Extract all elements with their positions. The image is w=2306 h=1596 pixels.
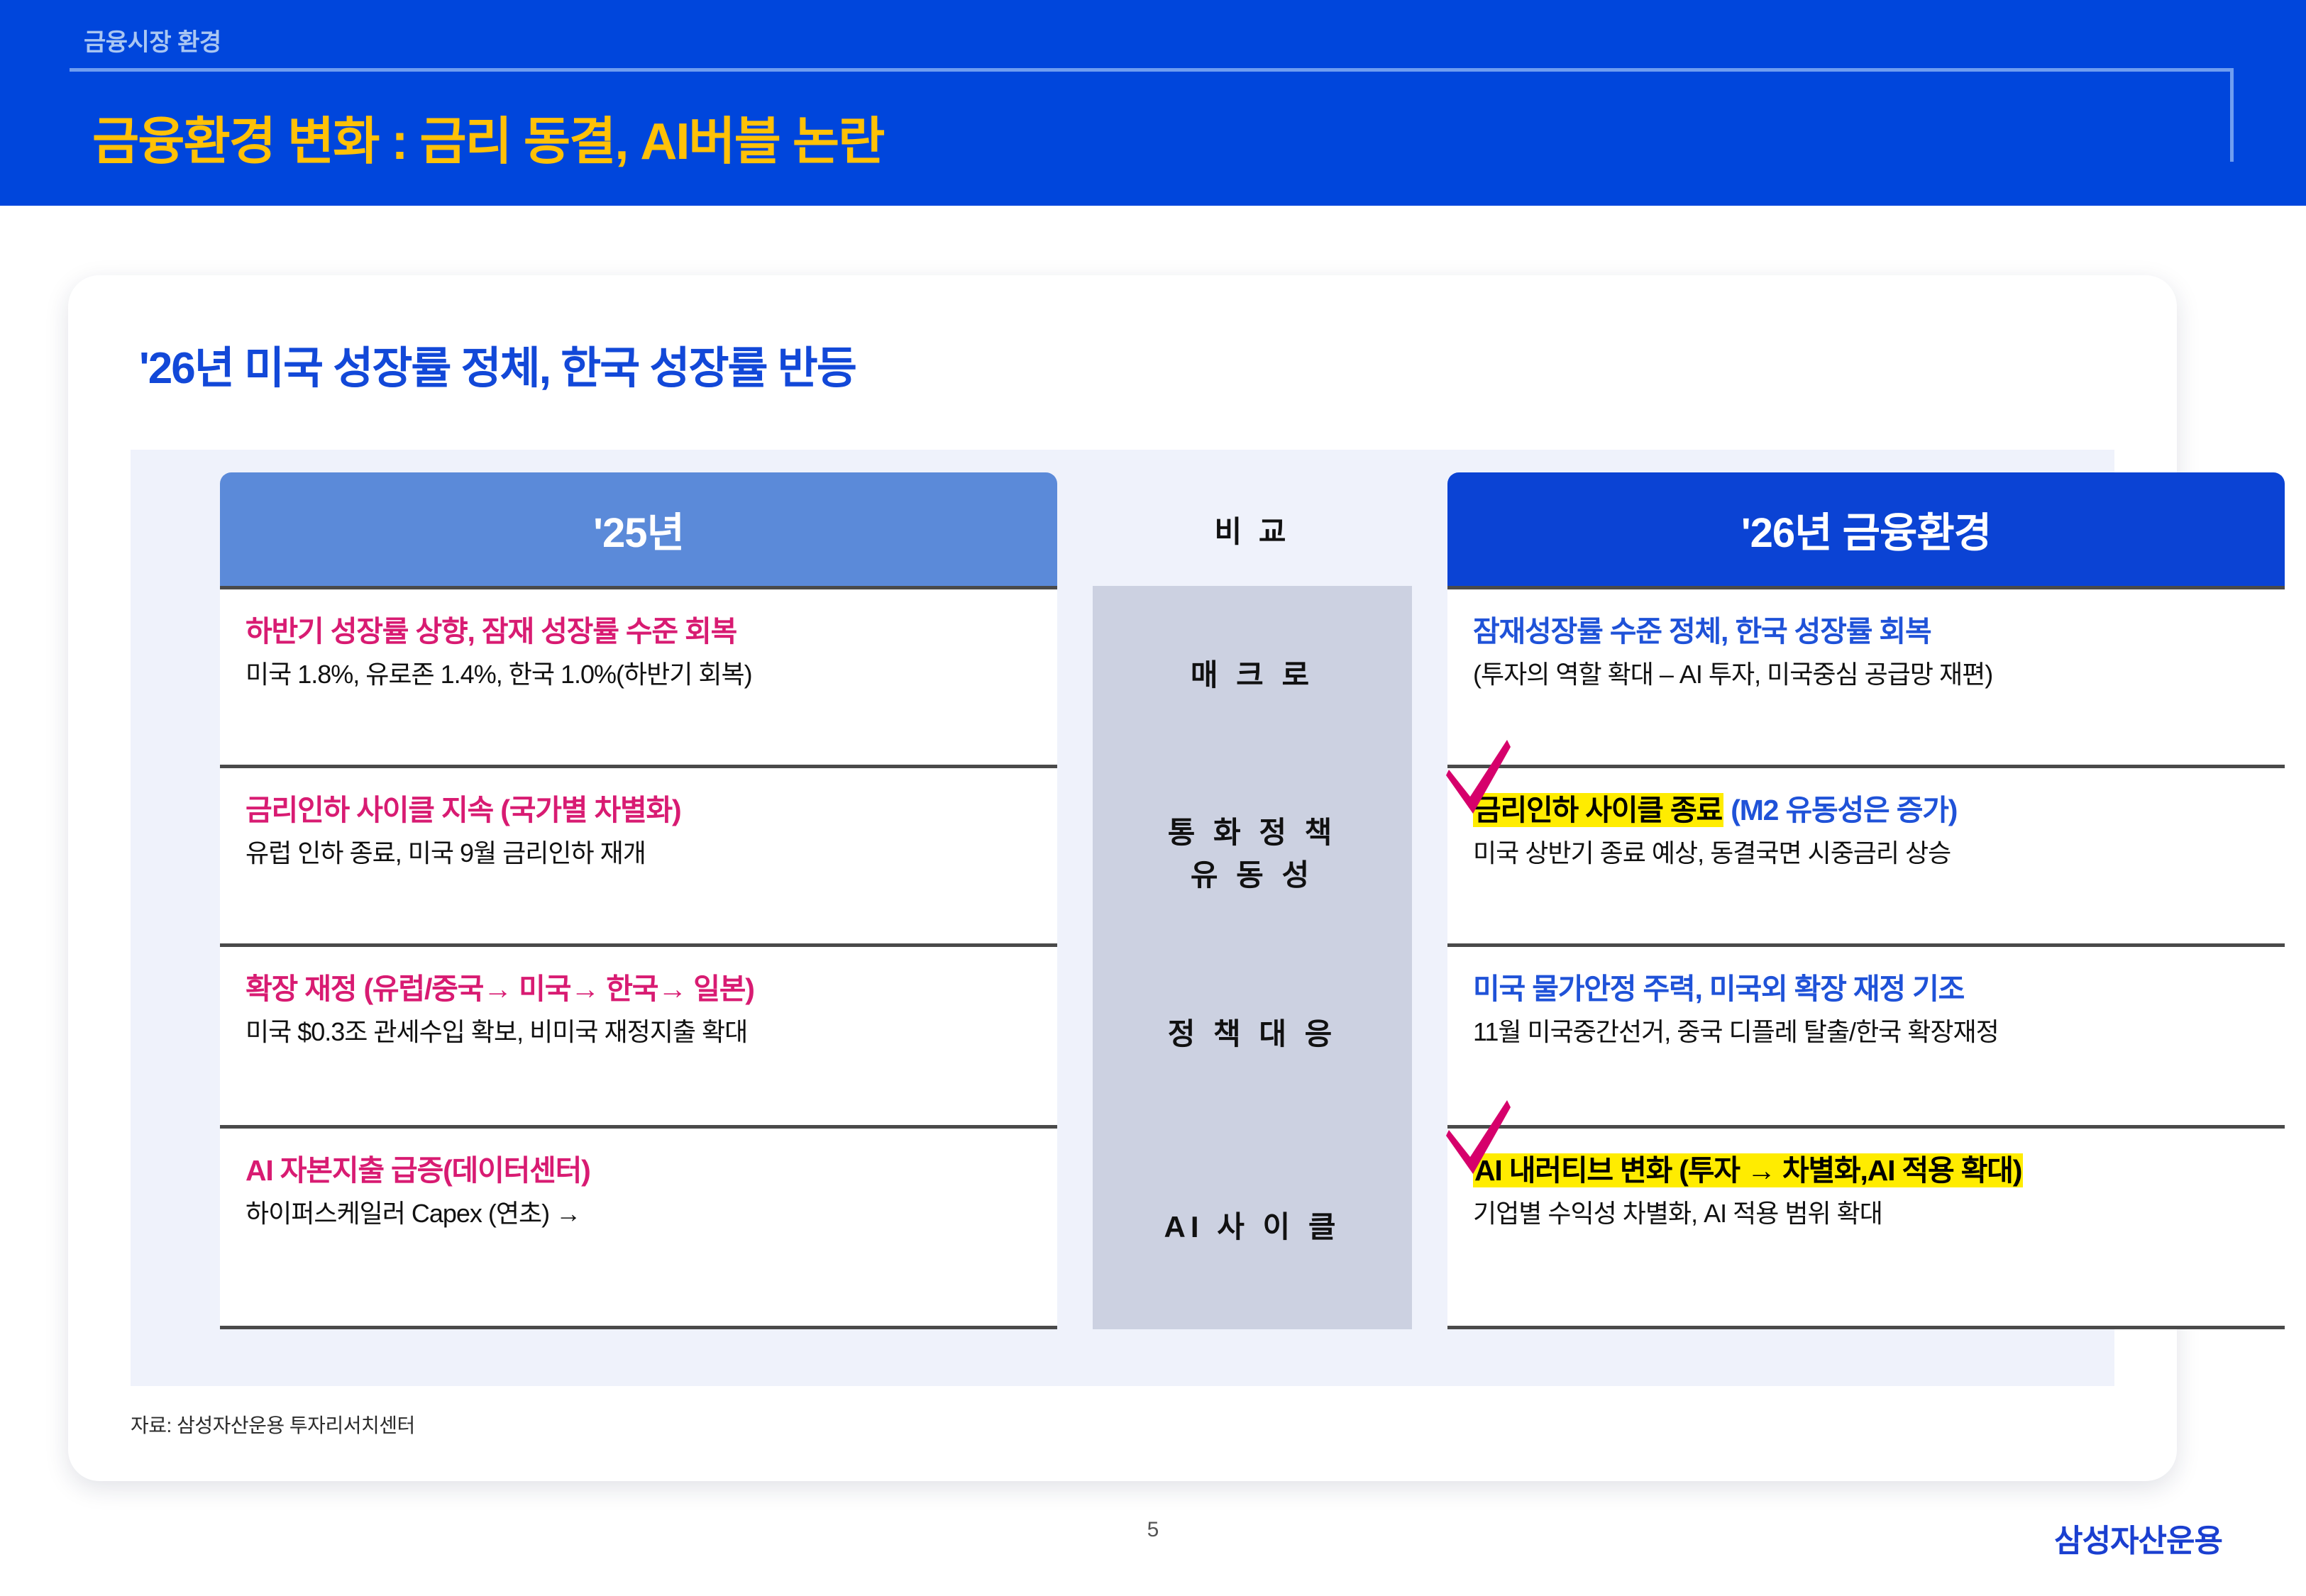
row-2-right-headline-highlight: 금리인하 사이클 종료 bbox=[1473, 793, 1723, 827]
row-2-cell-2025: 금리인하 사이클 지속 (국가별 차별화) 유럽 인하 종료, 미국 9월 금리… bbox=[220, 765, 1057, 943]
row-1-cell-2026: 잠재성장률 수준 정체, 한국 성장률 회복 (투자의 역할 확대 – AI 투… bbox=[1447, 586, 2285, 765]
row-3-cell-2025: 확장 재정 (유럽/중국→ 미국→ 한국→ 일본) 미국 $0.3조 관세수입 … bbox=[220, 943, 1057, 1125]
table-header-2025-label: '25년 bbox=[593, 499, 684, 559]
row-2-category-line: 유 동 성 bbox=[1191, 854, 1314, 897]
page-number: 5 bbox=[0, 1518, 2306, 1542]
row-3-cell-category: 정 책 대 응 bbox=[1093, 943, 1412, 1125]
header-banner: 금융시장 환경 금융환경 변화 : 금리 동결, AI버블 논란 bbox=[0, 0, 2306, 206]
row-4-category-line: AI 사 이 클 bbox=[1164, 1206, 1341, 1248]
row-2-right-headline-rest: (M2 유동성은 증가) bbox=[1723, 794, 1957, 826]
row-1-cell-2025: 하반기 성장률 상향, 잠재 성장률 수준 회복 미국 1.8%, 유로존 1.… bbox=[220, 586, 1057, 765]
table-row: 하반기 성장률 상향, 잠재 성장률 수준 회복 미국 1.8%, 유로존 1.… bbox=[131, 586, 2114, 765]
row-2-right-headline: 금리인하 사이클 종료 (M2 유동성은 증가) bbox=[1473, 792, 2259, 828]
row-1-cell-category: 매 크 로 bbox=[1093, 586, 1412, 765]
table-row: AI 자본지출 급증(데이터센터) 하이퍼스케일러 Capex (연초) → A… bbox=[131, 1125, 2114, 1329]
table-header-2026-label: '26년 금융환경 bbox=[1741, 499, 1991, 559]
row-3-category-line: 정 책 대 응 bbox=[1168, 1013, 1337, 1055]
row-4-left-headline: AI 자본지출 급증(데이터센터) bbox=[246, 1153, 1032, 1188]
company-logo: 삼성자산운용 bbox=[2054, 1515, 2222, 1561]
row-4-right-headline: AI 내러티브 변화 (투자 → 차별화,AI 적용 확대) bbox=[1473, 1153, 2259, 1188]
row-4-cell-category: AI 사 이 클 bbox=[1093, 1125, 1412, 1329]
row-3-left-subline: 미국 $0.3조 관세수입 확보, 비미국 재정지출 확대 bbox=[246, 1016, 1032, 1047]
row-1-right-headline: 잠재성장률 수준 정체, 한국 성장률 회복 bbox=[1473, 614, 2259, 649]
row-4-right-headline-highlight: AI 내러티브 변화 (투자 → 차별화,AI 적용 확대) bbox=[1473, 1153, 2023, 1187]
table-header-2025: '25년 bbox=[220, 472, 1057, 586]
header-horizontal-rule bbox=[70, 68, 2234, 72]
row-2-category-line: 통 화 정 책 bbox=[1168, 811, 1337, 854]
table-row: 금리인하 사이클 지속 (국가별 차별화) 유럽 인하 종료, 미국 9월 금리… bbox=[131, 765, 2114, 943]
row-1-left-headline: 하반기 성장률 상향, 잠재 성장률 수준 회복 bbox=[246, 614, 1032, 649]
row-3-right-headline: 미국 물가안정 주력, 미국외 확장 재정 기조 bbox=[1473, 971, 2259, 1007]
table-header-compare: 비 교 bbox=[1093, 472, 1412, 586]
row-3-right-subline: 11월 미국중간선거, 중국 디플레 탈출/한국 확장재정 bbox=[1473, 1016, 2259, 1047]
row-1-left-subline: 미국 1.8%, 유로존 1.4%, 한국 1.0%(하반기 회복) bbox=[246, 659, 1032, 689]
header-vertical-rule bbox=[2230, 68, 2234, 162]
comparison-table: '25년 비 교 '26년 금융환경 하반기 성장률 상향, 잠재 성장률 수준… bbox=[131, 450, 2114, 1386]
row-4-cell-2026: AI 내러티브 변화 (투자 → 차별화,AI 적용 확대) 기업별 수익성 차… bbox=[1447, 1125, 2285, 1329]
content-card: '26년 미국 성장률 정체, 한국 성장률 반등 '25년 비 교 '26년 … bbox=[68, 275, 2177, 1481]
table-row: 확장 재정 (유럽/중국→ 미국→ 한국→ 일본) 미국 $0.3조 관세수입 … bbox=[131, 943, 2114, 1125]
row-1-category-line: 매 크 로 bbox=[1191, 654, 1314, 697]
row-2-left-subline: 유럽 인하 종료, 미국 9월 금리인하 재개 bbox=[246, 838, 1032, 868]
row-2-left-headline: 금리인하 사이클 지속 (국가별 차별화) bbox=[246, 792, 1032, 828]
source-note: 자료: 삼성자산운용 투자리서치센터 bbox=[131, 1410, 415, 1439]
header-eyebrow: 금융시장 환경 bbox=[84, 23, 221, 57]
page-title: 금융환경 변화 : 금리 동결, AI버블 논란 bbox=[92, 99, 883, 174]
row-4-right-subline: 기업별 수익성 차별화, AI 적용 범위 확대 bbox=[1473, 1198, 2259, 1229]
row-1-right-subline: (투자의 역할 확대 – AI 투자, 미국중심 공급망 재편) bbox=[1473, 659, 2259, 689]
row-2-right-subline: 미국 상반기 종료 예상, 동결국면 시중금리 상승 bbox=[1473, 838, 2259, 868]
table-header-2026: '26년 금융환경 bbox=[1447, 472, 2285, 586]
row-4-cell-2025: AI 자본지출 급증(데이터센터) 하이퍼스케일러 Capex (연초) → bbox=[220, 1125, 1057, 1329]
table-header-compare-label: 비 교 bbox=[1215, 508, 1291, 551]
row-3-cell-2026: 미국 물가안정 주력, 미국외 확장 재정 기조 11월 미국중간선거, 중국 … bbox=[1447, 943, 2285, 1125]
row-3-left-headline: 확장 재정 (유럽/중국→ 미국→ 한국→ 일본) bbox=[246, 971, 1032, 1007]
row-2-cell-category: 통 화 정 책 유 동 성 bbox=[1093, 765, 1412, 943]
card-title: '26년 미국 성장률 정체, 한국 성장률 반등 bbox=[139, 332, 856, 396]
comparison-table-panel: '25년 비 교 '26년 금융환경 하반기 성장률 상향, 잠재 성장률 수준… bbox=[131, 450, 2114, 1386]
row-4-left-subline: 하이퍼스케일러 Capex (연초) → bbox=[246, 1198, 1032, 1229]
row-2-cell-2026: 금리인하 사이클 종료 (M2 유동성은 증가) 미국 상반기 종료 예상, 동… bbox=[1447, 765, 2285, 943]
